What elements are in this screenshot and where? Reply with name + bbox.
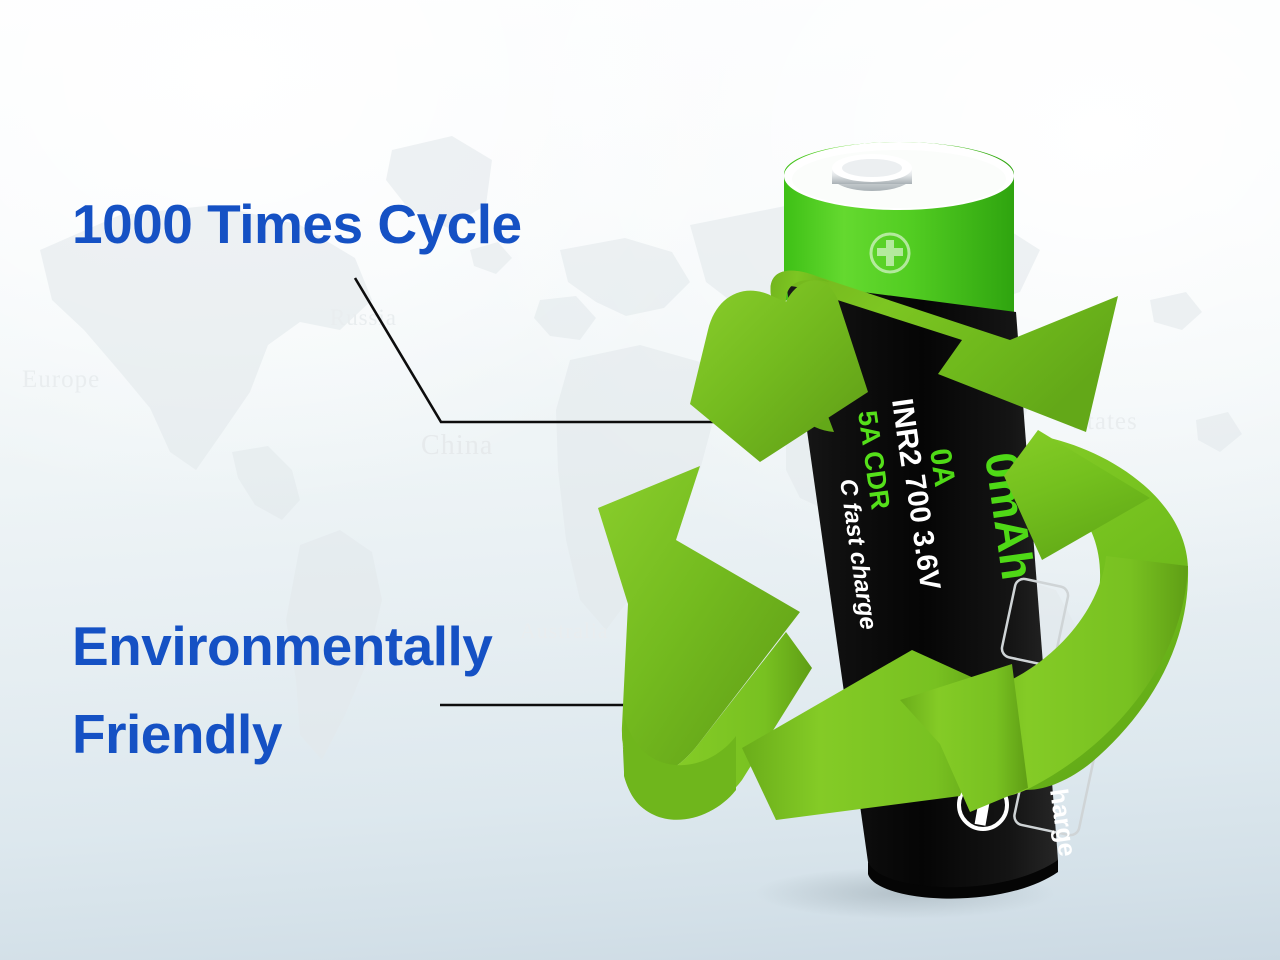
slide-canvas: Europe Russia China Australia States 100… <box>0 0 1280 960</box>
product-illustration: INR2 700 3.6V 5A CDR C fast charge 0mAh … <box>0 0 1280 960</box>
label-current: 0A <box>923 446 961 489</box>
